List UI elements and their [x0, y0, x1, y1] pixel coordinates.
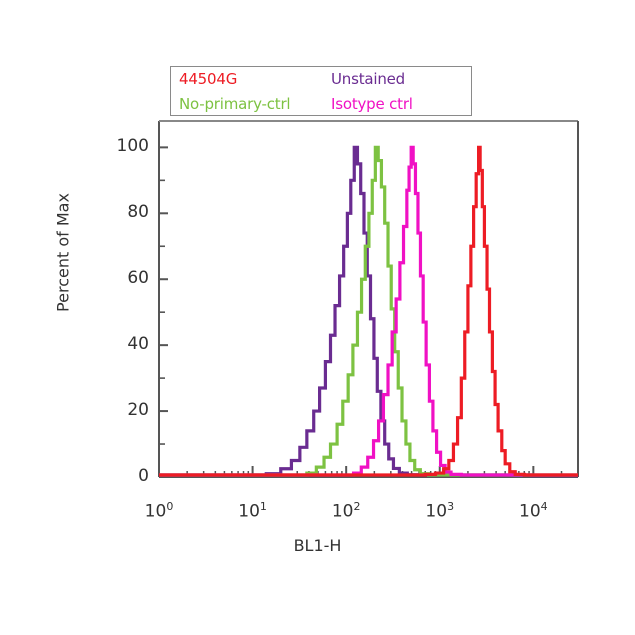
flow-cytometry-histogram-figure: 44504G Unstained No-primary-ctrl Isotype… [0, 0, 635, 635]
y-tick-label: 20 [97, 400, 149, 420]
histogram-trace-unstained [159, 147, 578, 475]
x-tick-label: 103 [410, 500, 470, 522]
x-tick-label: 102 [316, 500, 376, 522]
histogram-trace-44504g [159, 147, 578, 475]
y-tick-label: 100 [97, 136, 149, 156]
y-tick-label: 80 [97, 202, 149, 222]
legend-entry-44504g: 44504G [171, 72, 323, 87]
legend-entry-no-primary-ctrl: No-primary-ctrl [171, 97, 323, 112]
x-tick-label: 104 [503, 500, 563, 522]
histogram-trace-isotype-ctrl [159, 147, 578, 475]
x-axis-label: BL1-H [0, 536, 635, 555]
y-axis-label: Percent of Max [54, 163, 73, 343]
y-tick-label: 60 [97, 268, 149, 288]
legend-entry-isotype-ctrl: Isotype ctrl [323, 97, 473, 112]
x-tick-label: 100 [129, 500, 189, 522]
legend: 44504G Unstained No-primary-ctrl Isotype… [170, 66, 472, 116]
y-tick-label: 0 [97, 466, 149, 486]
histogram-trace-no-primary-ctrl [159, 147, 578, 475]
y-tick-label: 40 [97, 334, 149, 354]
x-tick-label: 101 [223, 500, 283, 522]
legend-entry-unstained: Unstained [323, 72, 473, 87]
